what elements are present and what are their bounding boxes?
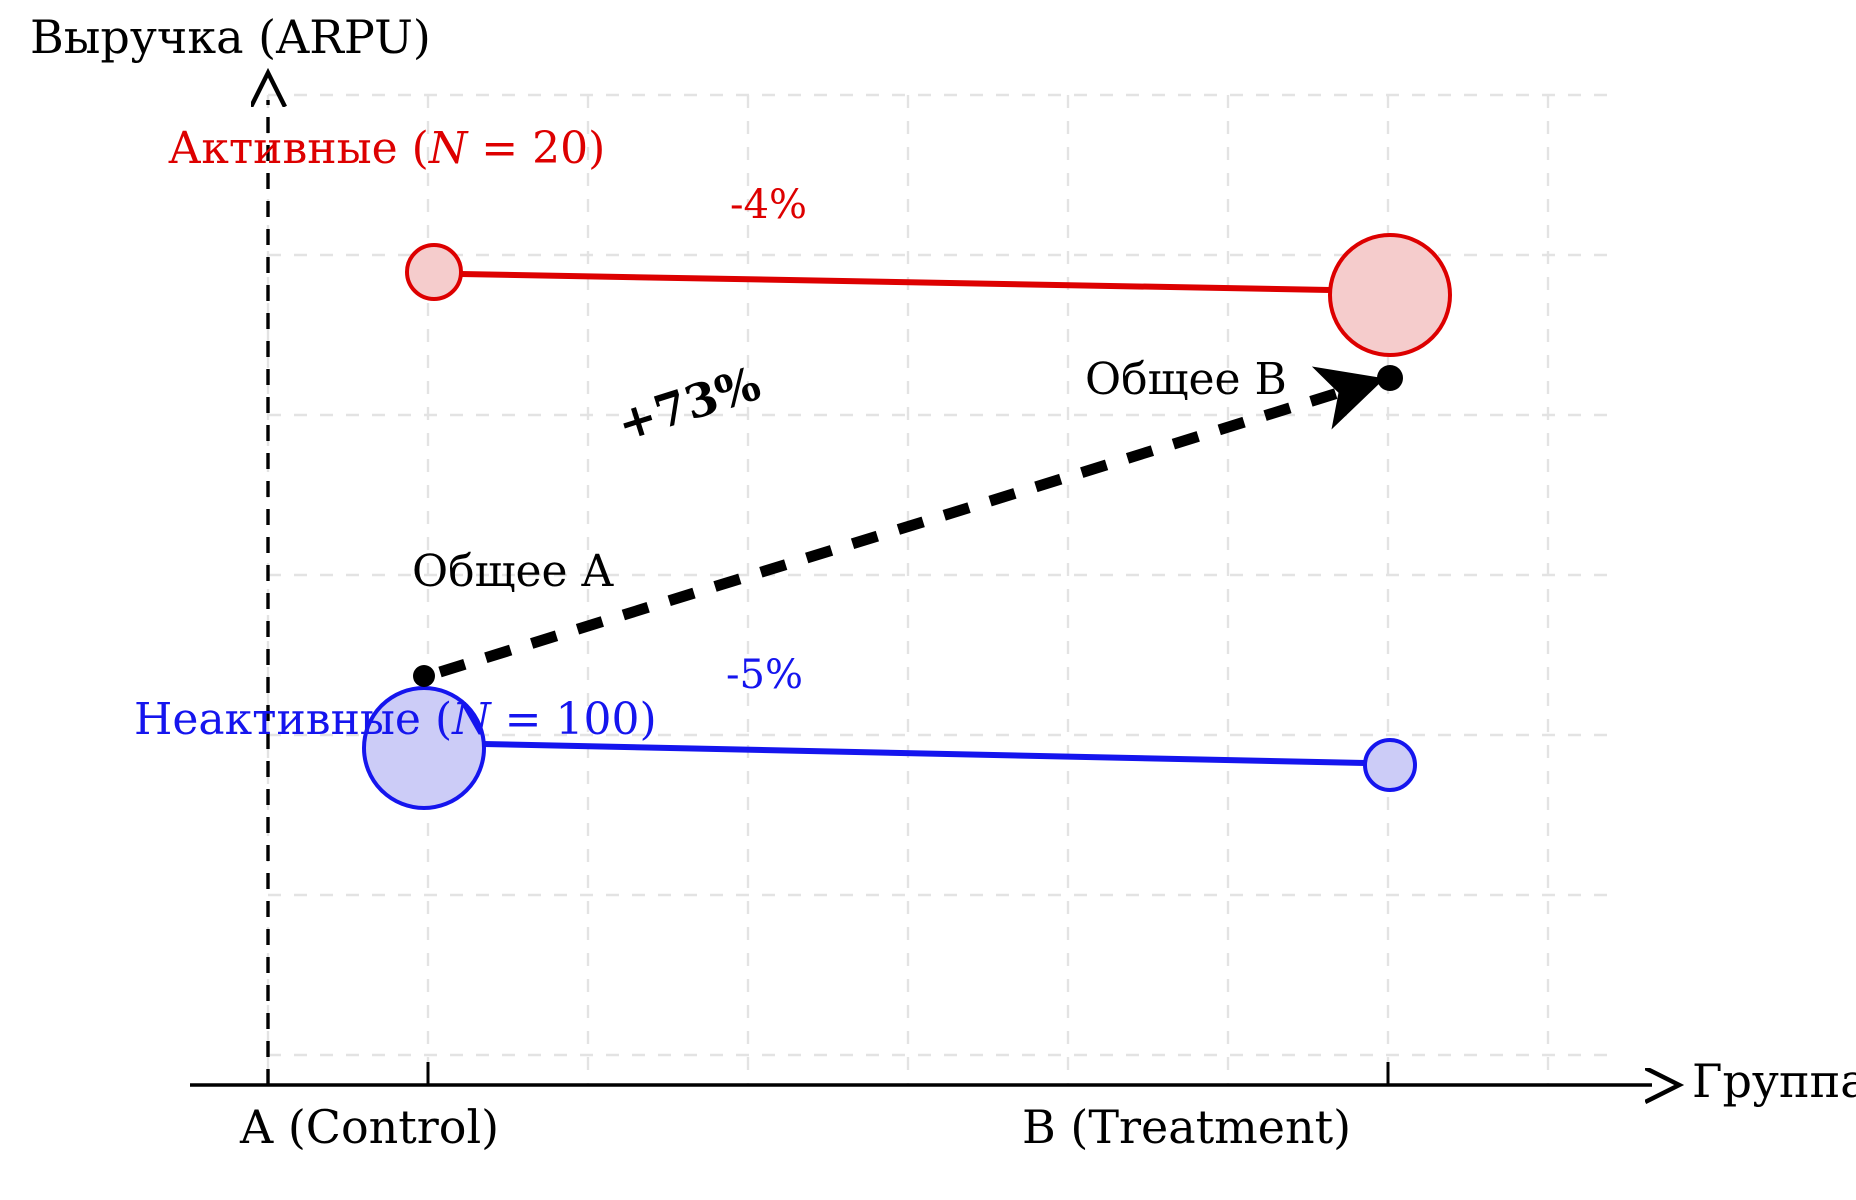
x-tick-label-treatment: B (Treatment) (1022, 1104, 1351, 1150)
point-overall-b[interactable] (1377, 365, 1403, 391)
delta-label-inactive: -5% (726, 655, 803, 695)
series-label-active-name: Активные (168, 123, 398, 174)
overall-trend-arrow (440, 383, 1370, 672)
point-label-overall-a: Общее A (412, 550, 613, 594)
y-axis-title: Выручка (ARPU) (30, 14, 431, 60)
series-label-active-var: N (429, 123, 468, 174)
series-line-inactive (484, 744, 1365, 763)
bubble-active-treatment[interactable] (1330, 235, 1450, 355)
series-label-active-paren-close: ) (588, 123, 605, 174)
series-label-inactive-value: 100 (555, 694, 639, 745)
series-label-inactive-var: N (452, 694, 491, 745)
series-label-active: Активные (N = 20) (168, 127, 605, 171)
series-label-inactive-paren-open: ( (421, 694, 452, 745)
point-label-overall-b: Общее B (1085, 358, 1287, 402)
bubble-active-control[interactable] (407, 245, 461, 299)
x-axis-title: Группа (1692, 1058, 1856, 1104)
series-label-active-paren-open: ( (398, 123, 429, 174)
series-label-inactive-equals: = (491, 694, 556, 745)
series-label-active-equals: = (467, 123, 532, 174)
series-line-active (461, 274, 1330, 290)
point-overall-a[interactable] (413, 665, 435, 687)
figure-canvas: Выручка (ARPU) Группа A (Control) B (Tre… (0, 0, 1856, 1200)
x-tick-label-control: A (Control) (240, 1104, 499, 1150)
delta-label-active: -4% (730, 185, 807, 225)
series-label-inactive-name: Неактивные (134, 694, 421, 745)
series-label-inactive-paren-close: ) (639, 694, 656, 745)
bubble-inactive-treatment[interactable] (1365, 740, 1415, 790)
chart-svg (0, 0, 1856, 1200)
series-label-inactive: Неактивные (N = 100) (134, 698, 657, 742)
series-label-active-value: 20 (532, 123, 588, 174)
